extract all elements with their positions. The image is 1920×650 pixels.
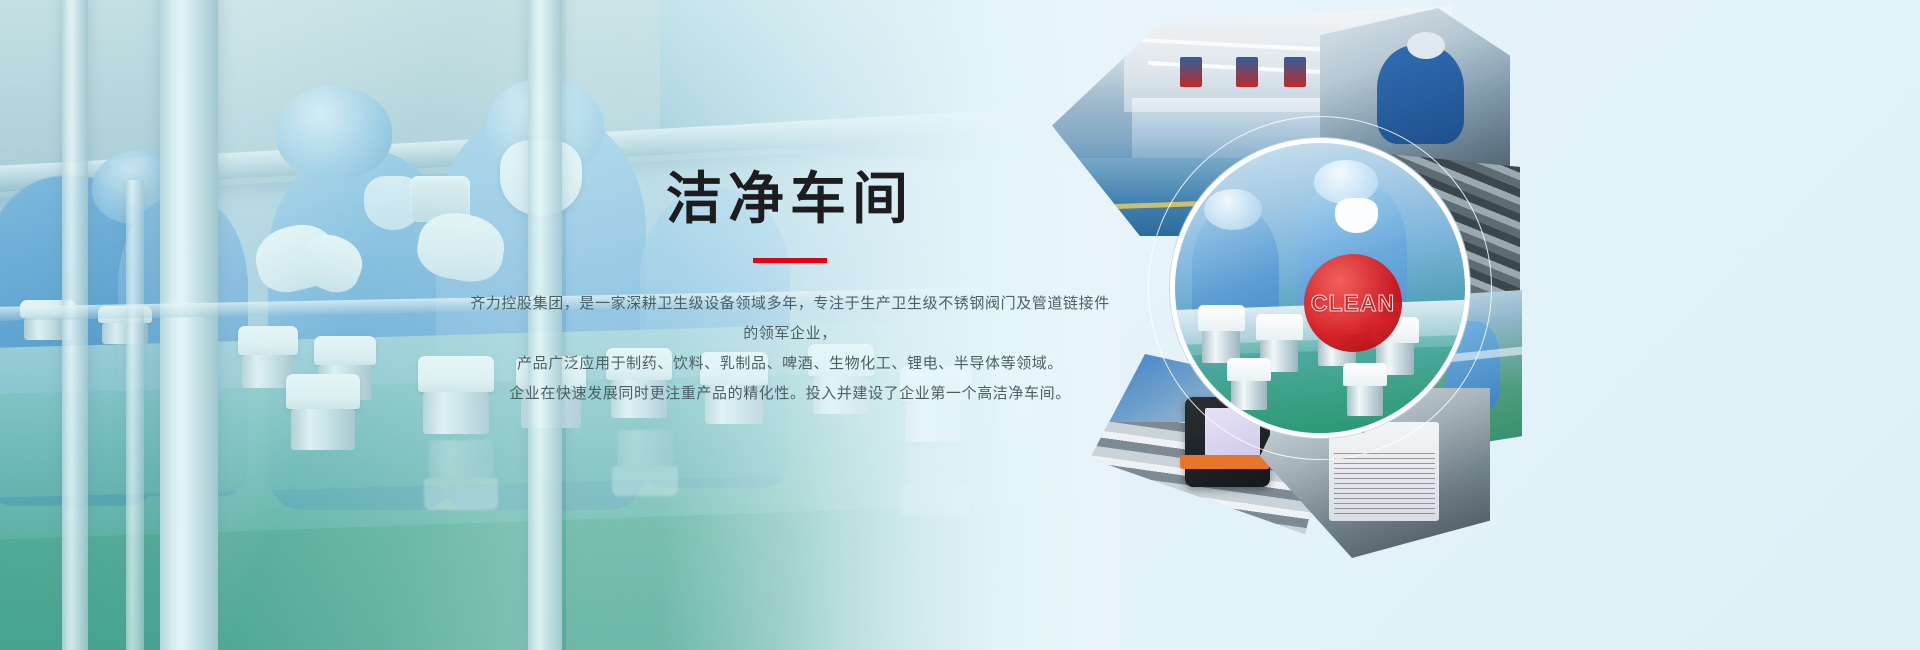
readout-rows — [1334, 453, 1435, 514]
wall-poster — [1284, 57, 1306, 87]
face-mask — [1335, 198, 1379, 233]
banner-copy: 洁净车间 齐力控股集团，是一家深耕卫生级设备领域多年，专注于生产卫生级不锈钢阀门… — [470, 168, 1110, 409]
worker-figure — [1377, 45, 1464, 144]
description-paragraph: 齐力控股集团，是一家深耕卫生级设备领域多年，专注于生产卫生级不锈钢阀门及管道链接… — [470, 289, 1110, 409]
valve-unit — [1198, 305, 1244, 363]
worker-cap — [1204, 189, 1262, 230]
clean-badge: CLEAN — [1304, 254, 1402, 352]
description-line-3: 企业在快速发展同时更注重产品的精化性。投入并建设了企业第一个高洁净车间。 — [470, 379, 1110, 409]
valve-unit — [1227, 358, 1271, 410]
title-underline — [753, 258, 827, 263]
page-title: 洁净车间 — [470, 168, 1110, 230]
wall-poster — [1236, 57, 1258, 87]
analyzer-grip — [1180, 455, 1270, 469]
hero-banner: 洁净车间 齐力控股集团，是一家深耕卫生级设备领域多年，专注于生产卫生级不锈钢阀门… — [0, 0, 1920, 650]
clean-badge-label: CLEAN — [1311, 290, 1395, 317]
description-line-2: 产品广泛应用于制药、饮料、乳制品、啤酒、生物化工、锂电、半导体等领域。 — [470, 349, 1110, 379]
description-line-1: 齐力控股集团，是一家深耕卫生级设备领域多年，专注于生产卫生级不锈钢阀门及管道链接… — [470, 289, 1110, 349]
valve-unit — [1343, 363, 1387, 415]
wall-poster — [1180, 57, 1202, 87]
photo-collage: SS304 CLEAN — [1052, 2, 1504, 532]
